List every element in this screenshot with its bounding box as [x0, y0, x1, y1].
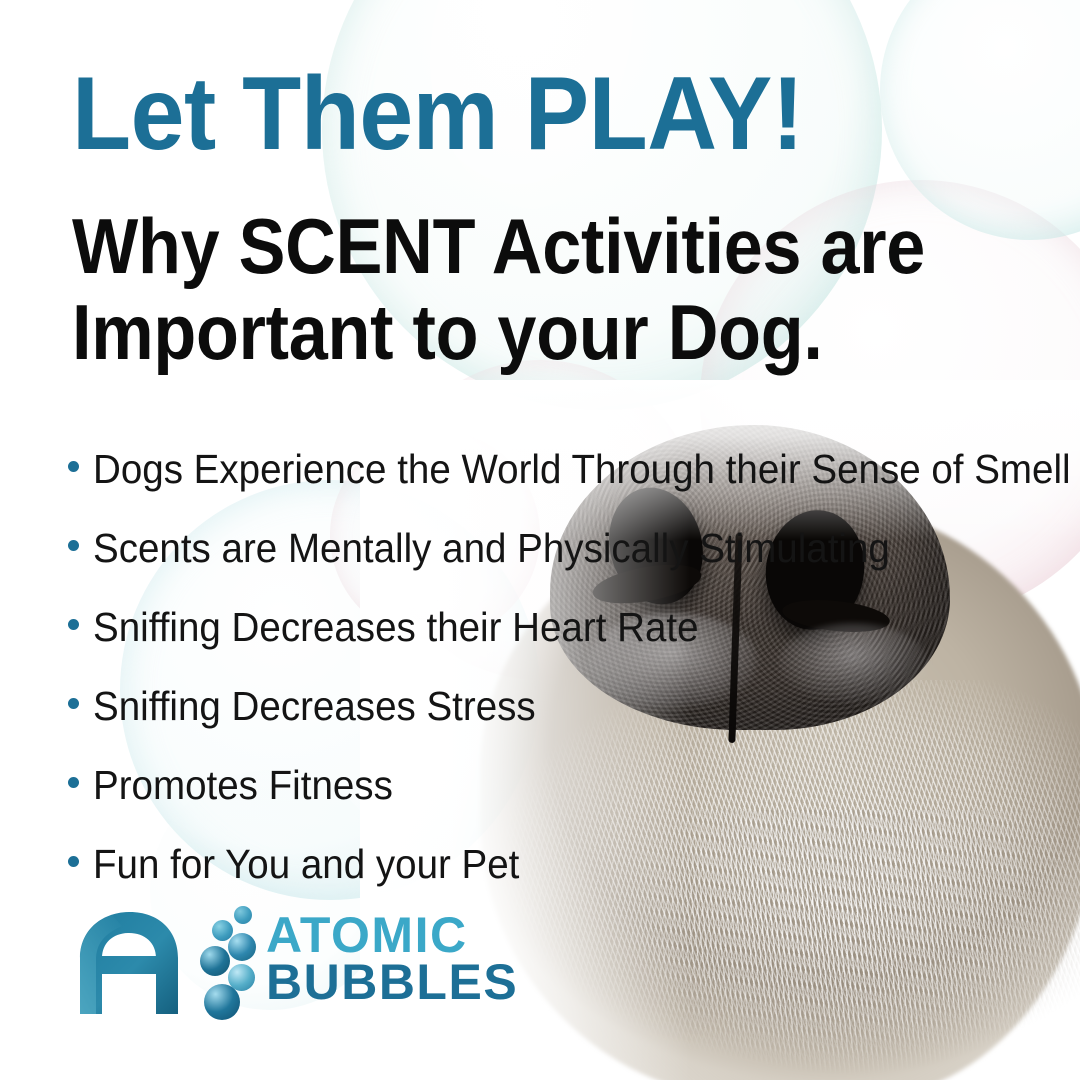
bullet-dot-icon — [68, 777, 79, 788]
page-subtitle: Why SCENT Activities are Important to yo… — [72, 204, 882, 376]
logo-word-bubbles: BUBBLES — [266, 959, 566, 1006]
logo-wordmark: ATOMIC BUBBLES — [266, 912, 566, 1006]
list-item: Fun for You and your Pet — [68, 825, 1048, 904]
list-item: Sniffing Decreases Stress — [68, 667, 1048, 746]
bullet-dot-icon — [68, 856, 79, 867]
logo-bubble-1 — [234, 906, 252, 924]
list-item: Scents are Mentally and Physically Stimu… — [68, 509, 1048, 588]
list-item-label: Scents are Mentally and Physically Stimu… — [93, 509, 890, 588]
list-item-label: Sniffing Decreases Stress — [93, 667, 536, 746]
brand-logo[interactable]: ATOMIC BUBBLES — [70, 902, 470, 1022]
list-item-label: Sniffing Decreases their Heart Rate — [93, 588, 699, 667]
logo-bubble-4 — [200, 946, 230, 976]
bullet-dot-icon — [68, 540, 79, 551]
list-item-label: Promotes Fitness — [93, 746, 393, 825]
logo-word-atomic: ATOMIC — [266, 912, 566, 959]
logo-a-mark-icon — [70, 908, 198, 1014]
list-item-label: Fun for You and your Pet — [93, 825, 519, 904]
bullet-dot-icon — [68, 619, 79, 630]
poster-canvas: Let Them PLAY! Why SCENT Activities are … — [0, 0, 1080, 1080]
logo-bubble-cluster-icon — [198, 902, 264, 1022]
subtitle-line-2: Important to your Dog. — [72, 290, 882, 376]
benefits-list: Dogs Experience the World Through their … — [68, 430, 1048, 904]
list-item: Sniffing Decreases their Heart Rate — [68, 588, 1048, 667]
page-title: Let Them PLAY! — [72, 62, 804, 166]
list-item: Dogs Experience the World Through their … — [68, 430, 1048, 509]
subtitle-line-1: Why SCENT Activities are — [72, 204, 882, 290]
list-item: Promotes Fitness — [68, 746, 1048, 825]
bullet-dot-icon — [68, 461, 79, 472]
poster-content: Let Them PLAY! Why SCENT Activities are … — [0, 0, 1080, 1080]
bullet-dot-icon — [68, 698, 79, 709]
logo-bubble-3 — [228, 933, 256, 961]
logo-bubble-6 — [204, 984, 240, 1020]
list-item-label: Dogs Experience the World Through their … — [93, 430, 1071, 509]
